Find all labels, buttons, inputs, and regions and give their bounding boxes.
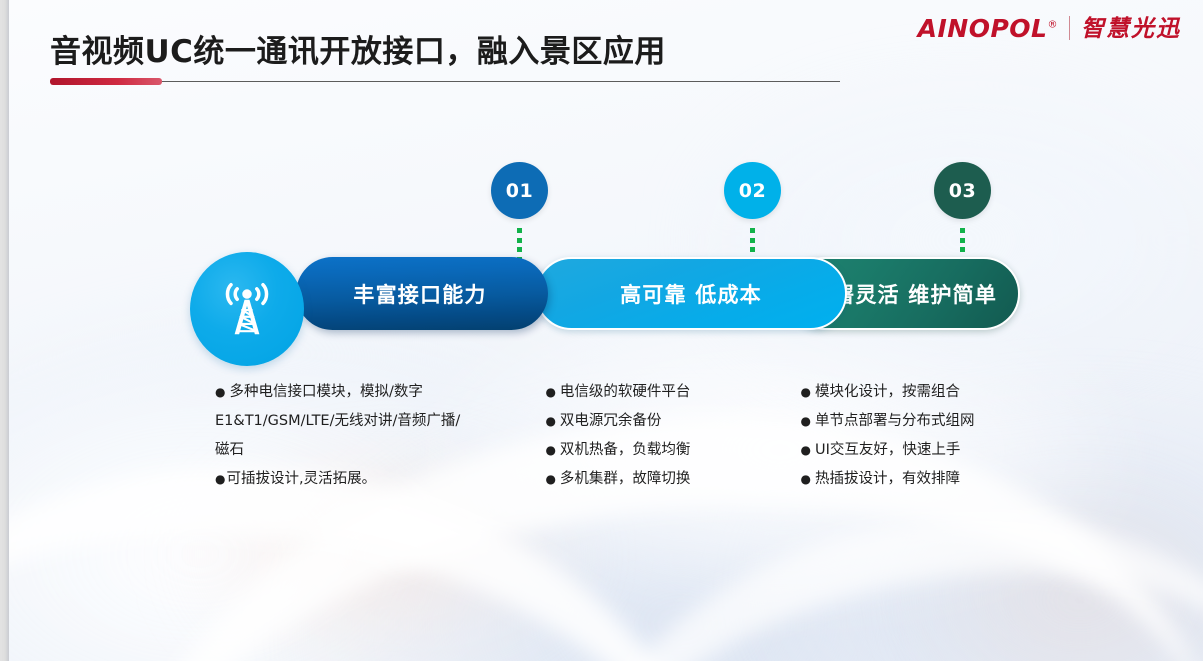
slide-left-edge-strip [0, 0, 9, 661]
page-title: 音视频UC统一通讯开放接口，融入景区应用 [50, 34, 850, 72]
bar-segment-1-label: 丰富接口能力 [353, 279, 490, 309]
bullet-text: 双机热备，负载均衡 [560, 442, 691, 458]
bullet-dot-icon: ● [801, 414, 811, 428]
bullet-dot-icon: ● [545, 472, 555, 486]
detail-column-3: ●模块化设计，按需组合●单节点部署与分布式组网●UI交互友好，快速上手●热插拔设… [792, 378, 1090, 494]
title-block: 音视频UC统一通讯开放接口，融入景区应用 [50, 34, 850, 82]
bullet-item: ●可插拔设计,灵活拓展。 [215, 465, 533, 494]
bullet-text: E1&T1/GSM/LTE/无线对讲/音频广播/ [215, 413, 460, 429]
bullet-dot-icon: ● [801, 472, 811, 486]
bullet-dot-icon: ● [545, 414, 555, 428]
bullet-dot-icon: ● [801, 443, 811, 457]
bullet-item: ●电信级的软硬件平台 [545, 378, 791, 407]
bullet-dot-icon: ● [215, 472, 225, 486]
bullet-dot-icon: ● [545, 443, 555, 457]
bullet-item-continuation: E1&T1/GSM/LTE/无线对讲/音频广播/ [215, 407, 533, 436]
bullet-item: ●单节点部署与分布式组网 [801, 407, 1090, 436]
broadcast-tower-icon [190, 252, 304, 366]
brand-chinese-name: 智慧光迅 [1081, 17, 1181, 40]
step-badge-01[interactable]: 01 [491, 162, 548, 219]
bullet-text: 电信级的软硬件平台 [560, 384, 691, 400]
step-badge-03[interactable]: 03 [934, 162, 991, 219]
bullet-dot-icon: ● [801, 385, 811, 399]
feature-detail-columns: ●多种电信接口模块，模拟/数字E1&T1/GSM/LTE/无线对讲/音频广播/磁… [190, 378, 1090, 494]
bullet-text: 磁石 [215, 442, 244, 458]
step-badge-02[interactable]: 02 [724, 162, 781, 219]
bullet-item: ●热插拔设计，有效排障 [801, 465, 1090, 494]
bullet-item: ●模块化设计，按需组合 [801, 378, 1090, 407]
brand-logo: AINOPOL® 智慧光迅 [918, 8, 1181, 48]
bullet-item: ●双电源冗余备份 [545, 407, 791, 436]
bullet-item: ●多机集群，故障切换 [545, 465, 791, 494]
bar-segment-interface[interactable]: 丰富接口能力 [296, 257, 548, 330]
logo-divider [1069, 16, 1070, 40]
bullet-text: 热插拔设计，有效排障 [815, 471, 960, 487]
bullet-item: ●多种电信接口模块，模拟/数字 [215, 378, 533, 407]
feature-bar: 部署灵活 维护简单 高可靠 低成本 丰富接口能力 [190, 252, 1020, 336]
bullet-item: ●UI交互友好，快速上手 [801, 436, 1090, 465]
bullet-text: 多机集群，故障切换 [560, 471, 691, 487]
title-underline-rule [50, 81, 840, 83]
bar-segment-2-label: 高可靠 低成本 [620, 279, 762, 309]
bullet-text: 模块化设计，按需组合 [815, 384, 960, 400]
detail-column-2: ●电信级的软硬件平台●双电源冗余备份●双机热备，负载均衡●多机集群，故障切换 [533, 378, 791, 494]
bar-segment-reliability[interactable]: 高可靠 低成本 [535, 257, 847, 330]
bullet-item: ●双机热备，负载均衡 [545, 436, 791, 465]
bullet-text: 双电源冗余备份 [560, 413, 662, 429]
bullet-text: UI交互友好，快速上手 [815, 442, 960, 458]
bullet-text: 单节点部署与分布式组网 [815, 413, 975, 429]
bullet-dot-icon: ● [545, 385, 555, 399]
bullet-dot-icon: ● [215, 385, 225, 399]
brand-wordmark: AINOPOL® [918, 16, 1058, 41]
slide-canvas: AINOPOL® 智慧光迅 音视频UC统一通讯开放接口，融入景区应用 01 02… [0, 0, 1203, 661]
bullet-text: 可插拔设计,灵活拓展。 [226, 471, 376, 487]
bullet-text: 多种电信接口模块，模拟/数字 [229, 384, 422, 400]
registered-trademark-icon: ® [1048, 19, 1059, 30]
brand-wordmark-text: AINOPOL [918, 14, 1048, 43]
bullet-item-continuation: 磁石 [215, 436, 533, 465]
detail-column-1: ●多种电信接口模块，模拟/数字E1&T1/GSM/LTE/无线对讲/音频广播/磁… [190, 378, 533, 494]
